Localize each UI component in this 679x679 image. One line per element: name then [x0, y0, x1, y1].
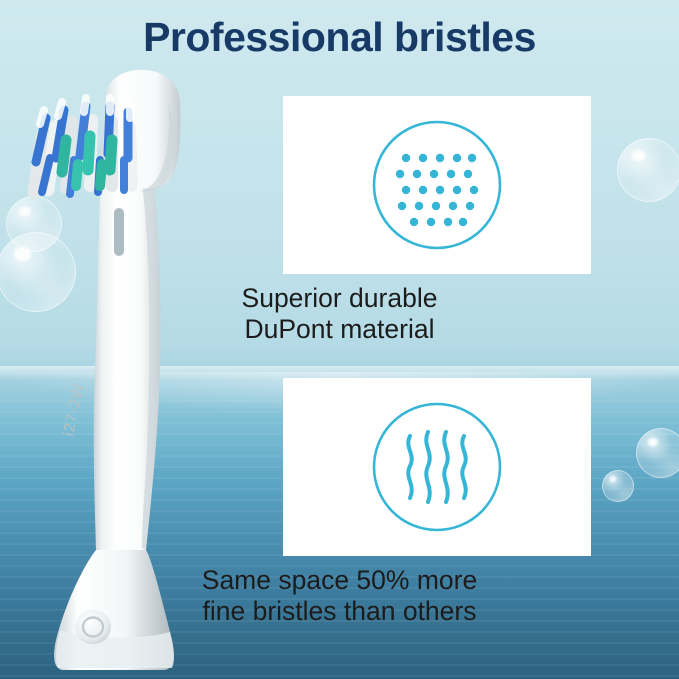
bubble-right-small: [602, 470, 634, 502]
brush-base-shade: [56, 630, 174, 668]
page-title: Professional bristles: [0, 14, 679, 61]
brush-head-body: [100, 70, 181, 189]
brush-neck-shade: [140, 160, 161, 550]
feature-card-2: [283, 378, 591, 556]
bubble-left-small: [6, 196, 62, 252]
brush-bristles: [34, 98, 132, 194]
feature-card-1-caption: Superior durable DuPont material: [0, 283, 679, 345]
bubble-right-large: [617, 138, 679, 202]
brush-indicator-slot: [114, 208, 124, 256]
brush-head-shade: [140, 102, 174, 192]
feature-card-2-caption: Same space 50% more fine bristles than o…: [0, 565, 679, 627]
wavy-lines-circle-icon: [362, 392, 512, 542]
dotted-circle-bristles-icon: [362, 110, 512, 260]
brush-model-label: i27-2W: [60, 382, 88, 438]
product-marketing-image: Professional bristles: [0, 0, 679, 679]
feature-card-1-icon-wrap: [283, 110, 591, 260]
feature-card-1: [283, 96, 591, 274]
bubble-right-medium: [636, 428, 679, 478]
brush-neck: [94, 160, 161, 550]
feature-card-2-icon-wrap: [283, 392, 591, 542]
